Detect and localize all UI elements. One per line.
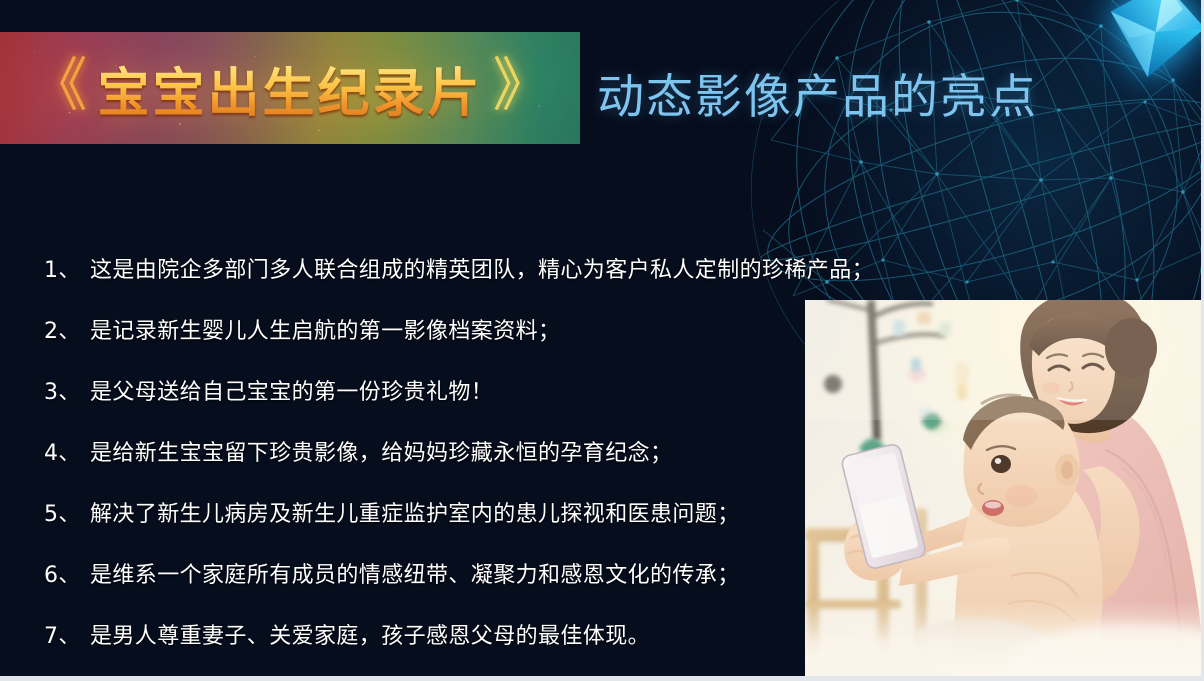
list-item-number: 1、 [44, 252, 90, 284]
list-item-number: 4、 [44, 435, 90, 467]
list-item-number: 3、 [44, 374, 90, 406]
banner-title: 宝宝出生纪录片 [97, 51, 482, 126]
bracket-right-icon: 》 [493, 57, 551, 115]
page-title: 动态影像产品的亮点 [597, 58, 1038, 127]
diamond-crystal-icon [1096, 0, 1204, 90]
list-item-number: 6、 [44, 557, 90, 589]
bracket-left-icon: 《 [29, 57, 87, 115]
list-item-label: 这是由院企多部门多人联合组成的精英团队，精心为客户私人定制的珍稀产品； [90, 252, 1004, 284]
list-item-number: 2、 [44, 313, 90, 345]
slide-canvas: 《 宝宝出生纪录片 》 动态影像产品的亮点 1、 这是由院企多部门多人联合组成的… [0, 0, 1204, 681]
list-item-number: 7、 [44, 618, 90, 650]
title-banner: 《 宝宝出生纪录片 》 [0, 32, 580, 144]
mother-baby-selfie-photo [805, 300, 1204, 681]
list-item-number: 5、 [44, 496, 90, 528]
